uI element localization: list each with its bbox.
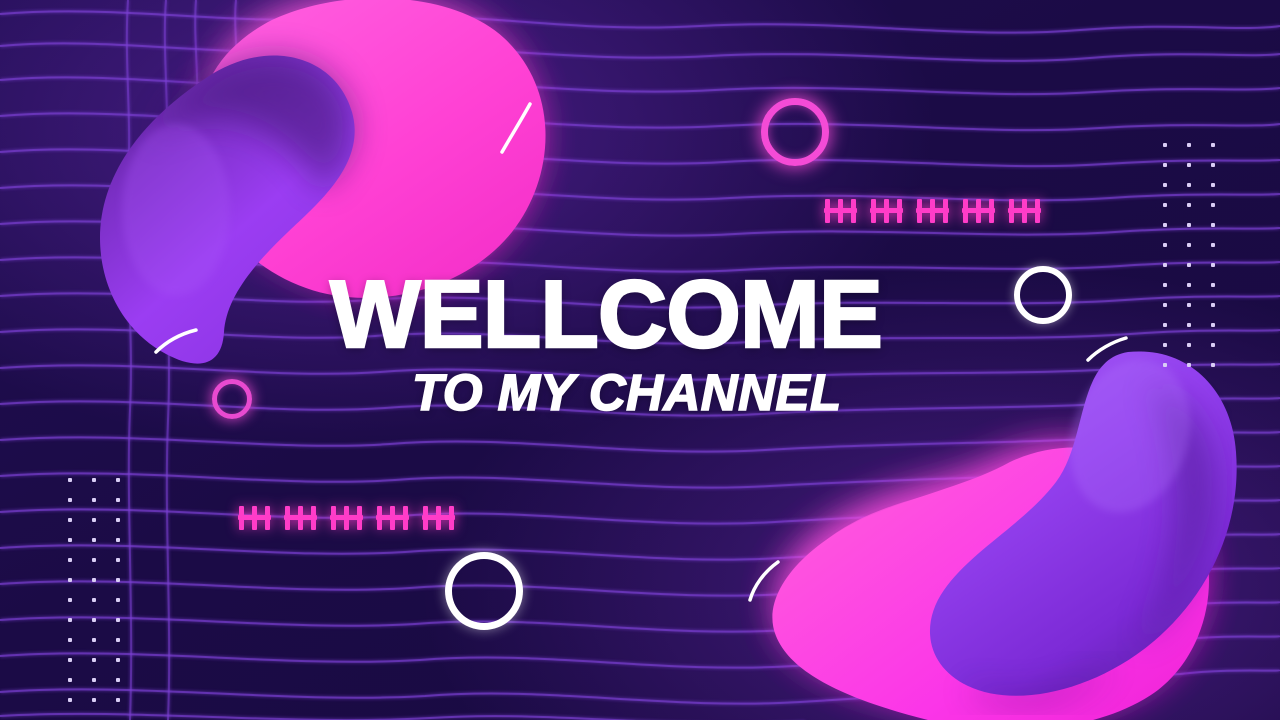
- grid-dot: [1187, 183, 1191, 187]
- grid-dot: [1211, 223, 1215, 227]
- arc-accent-icon: [1088, 338, 1126, 360]
- grid-dot: [92, 678, 96, 682]
- grid-dot: [1163, 303, 1167, 307]
- grid-dot: [116, 518, 120, 522]
- tally-mark-group: [824, 199, 857, 223]
- grid-dot: [116, 678, 120, 682]
- grid-dot: [92, 578, 96, 582]
- grid-dot: [1163, 363, 1167, 367]
- dot-grid-left: [68, 478, 120, 702]
- grid-dot: [68, 698, 72, 702]
- grid-dot: [1187, 263, 1191, 267]
- grid-dot: [68, 618, 72, 622]
- grid-dot: [1211, 183, 1215, 187]
- grid-dot: [1211, 363, 1215, 367]
- ring-white-large: [445, 552, 523, 630]
- grid-dot: [1163, 243, 1167, 247]
- tally-mark-group: [962, 199, 995, 223]
- grid-dot: [1163, 283, 1167, 287]
- tally-mark-group: [422, 506, 455, 530]
- ring-pink-small: [212, 379, 252, 419]
- grid-dot: [92, 698, 96, 702]
- grid-dot: [92, 558, 96, 562]
- grid-dot: [1163, 163, 1167, 167]
- grid-dot: [92, 518, 96, 522]
- ring-white-small: [1014, 266, 1072, 324]
- grid-dot: [116, 598, 120, 602]
- grid-dot: [1163, 223, 1167, 227]
- grid-dot: [92, 478, 96, 482]
- tally-mark-group: [916, 199, 949, 223]
- grid-dot: [1187, 283, 1191, 287]
- arc-accent-layer: [0, 0, 1280, 720]
- grid-dot: [1211, 323, 1215, 327]
- grid-dot: [92, 658, 96, 662]
- tally-mark-group: [330, 506, 363, 530]
- grid-dot: [116, 558, 120, 562]
- grid-dot: [1163, 263, 1167, 267]
- grid-dot: [1211, 243, 1215, 247]
- grid-dot: [116, 498, 120, 502]
- grid-dot: [68, 578, 72, 582]
- grid-dot: [1187, 163, 1191, 167]
- tally-mark-group: [870, 199, 903, 223]
- grid-dot: [92, 618, 96, 622]
- grid-dot: [1163, 203, 1167, 207]
- welcome-banner: WELLCOME TO MY CHANNEL: [0, 0, 1280, 720]
- grid-dot: [68, 538, 72, 542]
- grid-dot: [92, 538, 96, 542]
- grid-dot: [116, 638, 120, 642]
- grid-dot: [1163, 323, 1167, 327]
- dot-grid-right: [1163, 143, 1215, 367]
- grid-dot: [68, 658, 72, 662]
- tally-mark-group: [238, 506, 271, 530]
- grid-dot: [1187, 343, 1191, 347]
- grid-dot: [1187, 243, 1191, 247]
- tally-mark-group: [284, 506, 317, 530]
- arc-accent-icon: [156, 330, 196, 352]
- arc-accent-icon: [502, 104, 530, 152]
- grid-dot: [68, 518, 72, 522]
- grid-dot: [116, 538, 120, 542]
- arc-accent-icon: [750, 562, 778, 600]
- grid-dot: [1163, 343, 1167, 347]
- grid-dot: [68, 478, 72, 482]
- tally-mark-group: [376, 506, 409, 530]
- grid-dot: [1211, 303, 1215, 307]
- grid-dot: [1211, 263, 1215, 267]
- grid-dot: [1187, 363, 1191, 367]
- grid-dot: [1163, 143, 1167, 147]
- grid-dot: [1211, 203, 1215, 207]
- grid-dot: [68, 638, 72, 642]
- grid-dot: [92, 498, 96, 502]
- grid-dot: [116, 618, 120, 622]
- grid-dot: [1211, 163, 1215, 167]
- grid-dot: [1211, 283, 1215, 287]
- grid-dot: [68, 678, 72, 682]
- grid-dot: [1187, 203, 1191, 207]
- grid-dot: [116, 478, 120, 482]
- grid-dot: [68, 598, 72, 602]
- tally-mark-group: [1008, 199, 1041, 223]
- grid-dot: [1211, 143, 1215, 147]
- grid-dot: [116, 698, 120, 702]
- tally-row-top: [824, 199, 1041, 223]
- grid-dot: [116, 658, 120, 662]
- grid-dot: [68, 498, 72, 502]
- ring-pink-large: [761, 98, 829, 166]
- grid-dot: [92, 598, 96, 602]
- grid-dot: [1187, 303, 1191, 307]
- grid-dot: [1187, 143, 1191, 147]
- grid-dot: [1187, 323, 1191, 327]
- grid-dot: [1211, 343, 1215, 347]
- grid-dot: [68, 558, 72, 562]
- grid-dot: [116, 578, 120, 582]
- grid-dot: [1187, 223, 1191, 227]
- grid-dot: [1163, 183, 1167, 187]
- tally-row-bottom: [238, 506, 455, 530]
- grid-dot: [92, 638, 96, 642]
